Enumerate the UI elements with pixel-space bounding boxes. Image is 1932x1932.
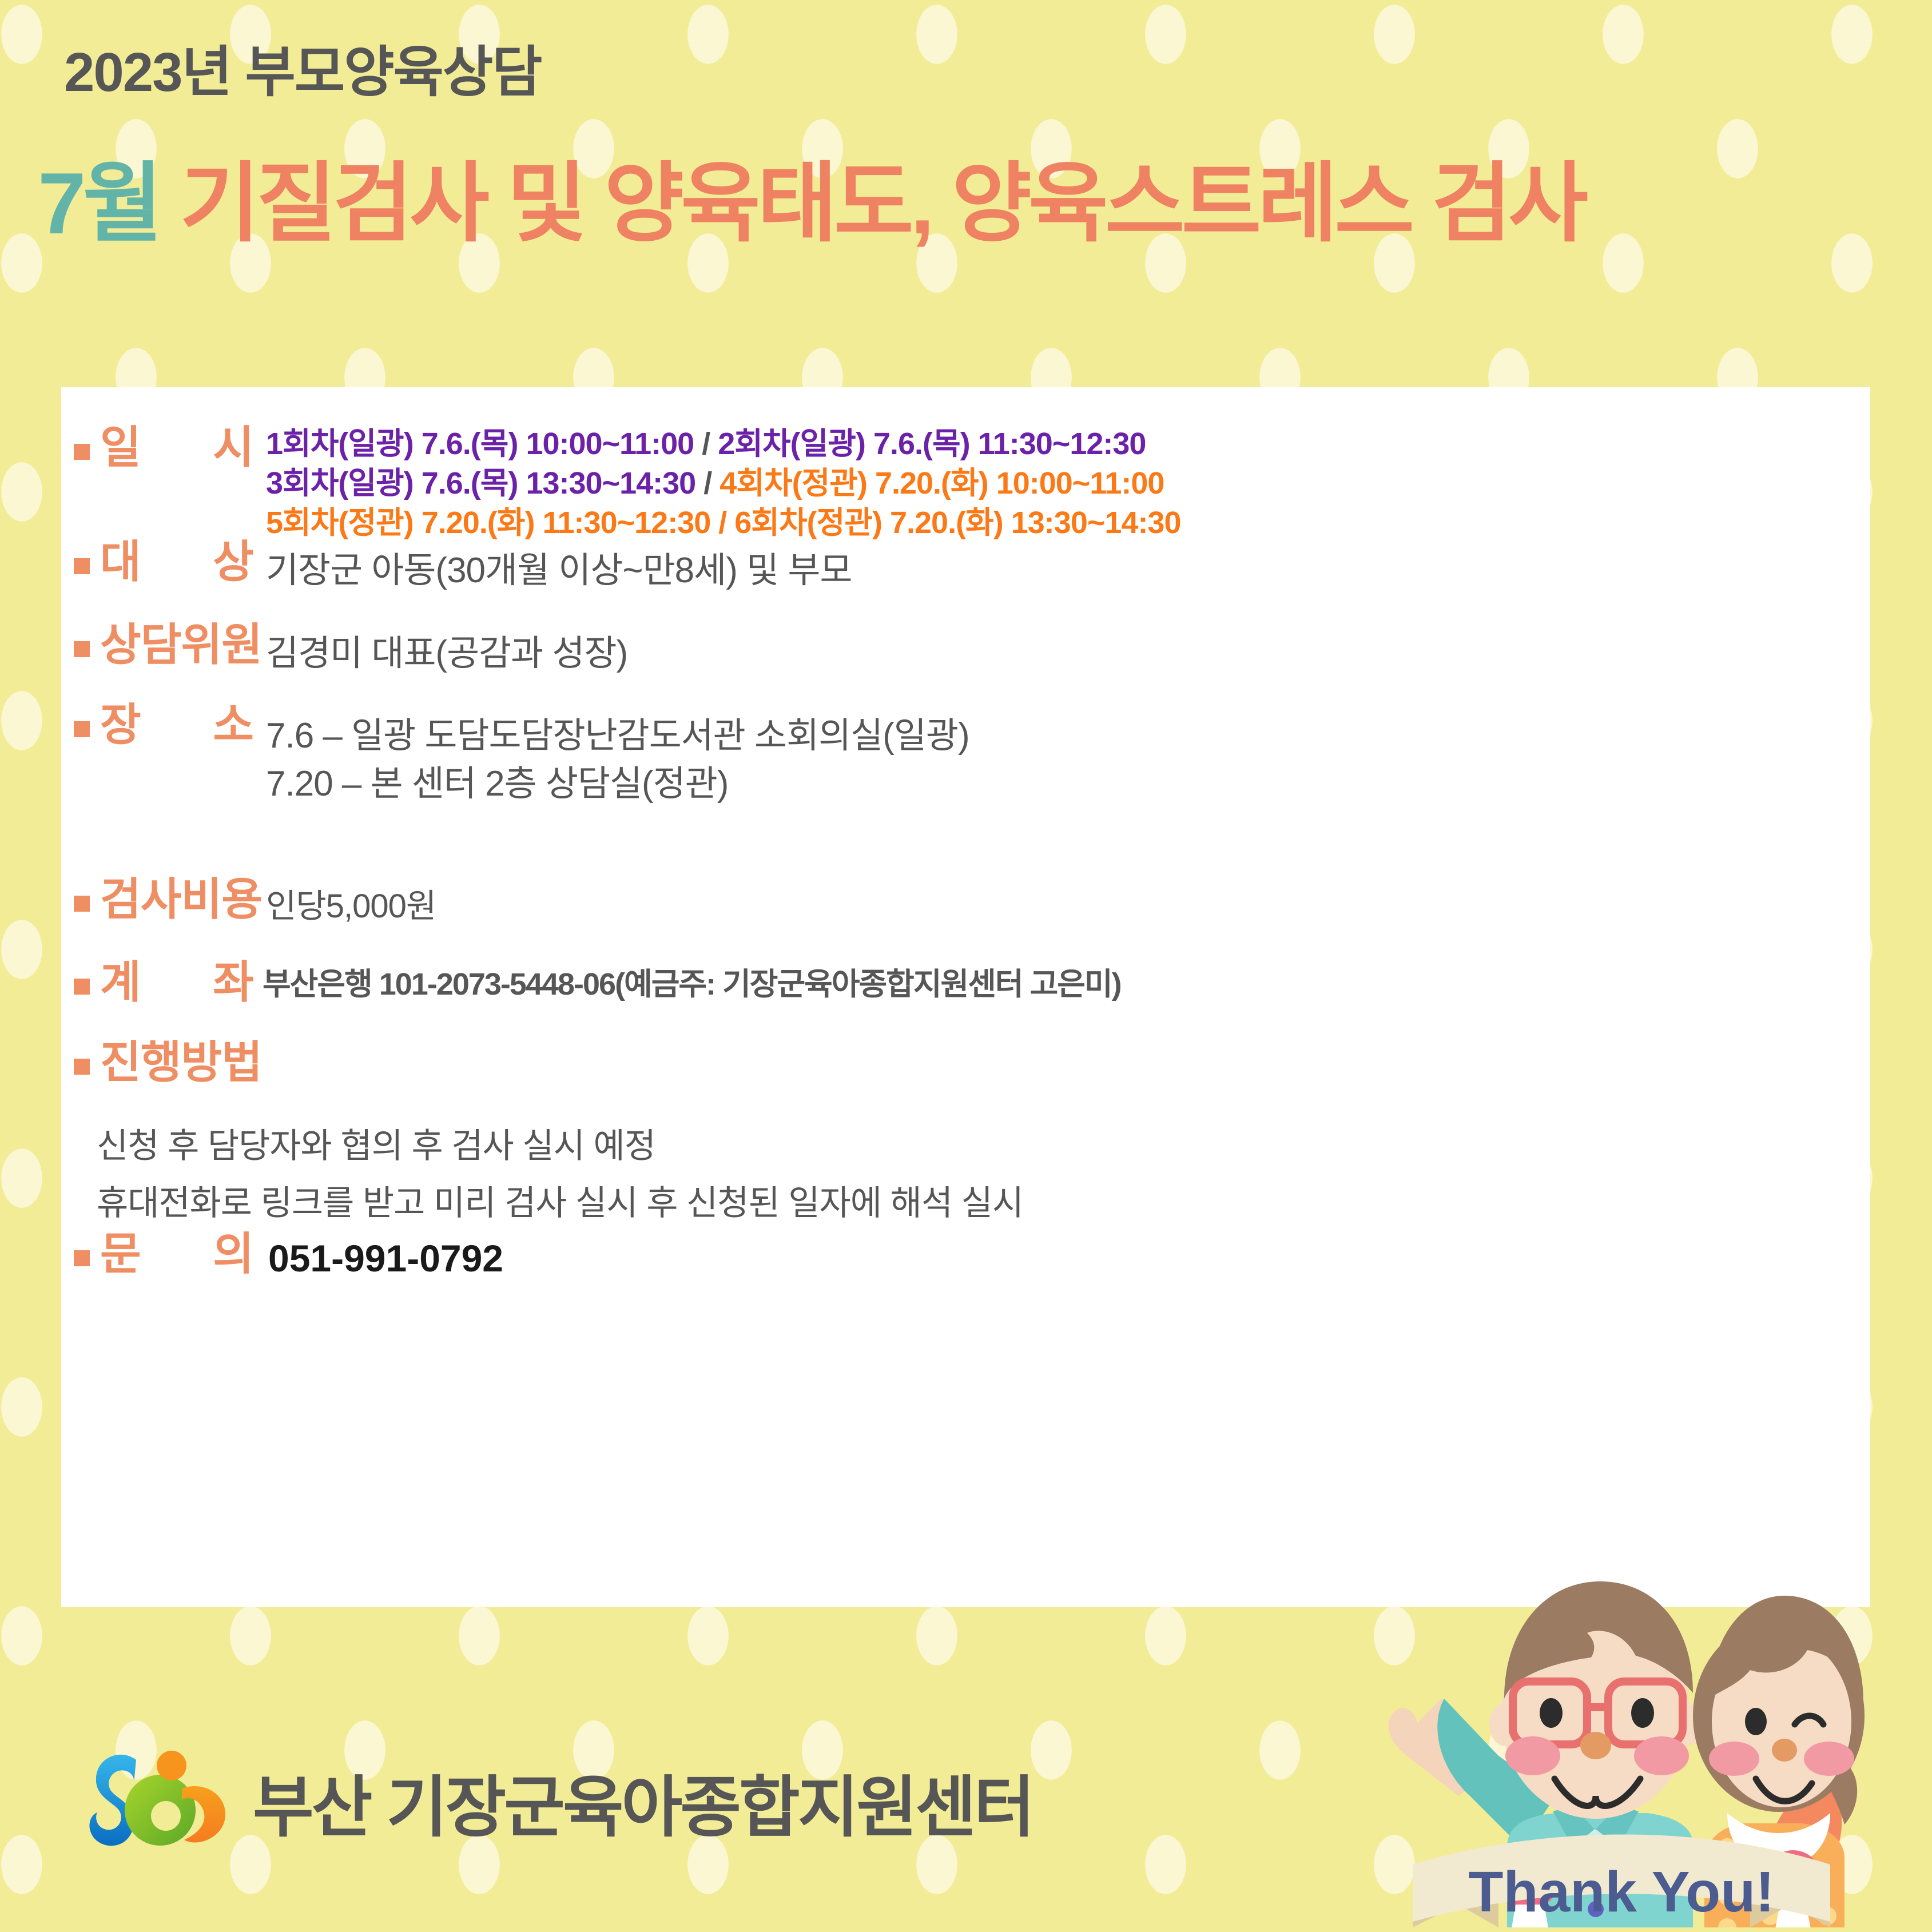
field-label-inquiry-b: 의 bbox=[213, 1231, 253, 1278]
bullet-square-icon bbox=[74, 979, 90, 995]
field-label-place: 장소 bbox=[100, 702, 253, 749]
field-row-account: 계좌 부산은행 101-2073-5448-06(예금주: 기장군육아종합지원센… bbox=[74, 959, 1121, 1006]
schedule-sep-1: / bbox=[694, 427, 718, 461]
center-logo-icon bbox=[86, 1736, 240, 1867]
schedule-list: 1회차(일광) 7.6.(목) 10:00~11:00 / 2회차(일광) 7.… bbox=[266, 424, 1181, 543]
method-line-2: 휴대전화로 링크를 받고 미리 검사 실시 후 신청된 일자에 해석 실시 bbox=[97, 1175, 1023, 1225]
field-label-place-a: 장 bbox=[100, 702, 141, 749]
parents-illustration: Thank You! bbox=[1327, 1527, 1916, 1927]
schedule-line-3: 5회차(정관) 7.20.(화) 11:30~12:30 / 6회차(정관) 7… bbox=[266, 503, 1181, 543]
bullet-square-icon bbox=[74, 1059, 90, 1075]
field-label-fee: 검사비용 bbox=[100, 876, 253, 923]
schedule-session-2: 2회차(일광) 7.6.(목) 11:30~12:30 bbox=[718, 427, 1146, 461]
bullet-square-icon bbox=[74, 721, 90, 737]
field-label-inquiry-a: 문 bbox=[100, 1231, 141, 1278]
poster-kicker: 2023년 부모양육상담 bbox=[64, 27, 541, 107]
field-label-account: 계좌 bbox=[100, 959, 253, 1006]
headline-rest: 기질검사 및 양육태도, 양육스트레스 검사 bbox=[159, 155, 1585, 252]
place-line-2: 7.20 – 본 센터 2층 상담실(정관) bbox=[266, 764, 728, 804]
field-label-datetime-a: 일 bbox=[100, 424, 141, 471]
field-row-inquiry: 문의 051-991-0792 bbox=[74, 1231, 503, 1280]
field-label-method: 진행방법 bbox=[100, 1039, 262, 1086]
field-value-inquiry-phone[interactable]: 051-991-0792 bbox=[268, 1237, 503, 1280]
bullet-square-icon bbox=[74, 1250, 90, 1266]
footer: 부산 기장군육아종합지원센터 bbox=[86, 1736, 1033, 1867]
field-row-target: 대상 기장군 아동(30개월 이상~만8세) 및 부모 bbox=[74, 539, 852, 595]
field-value-place: 7.6 – 일광 도담도담장난감도서관 소회의실(일광)7.20 – 본 센터 … bbox=[266, 712, 969, 808]
schedule-sep-3: / bbox=[710, 506, 734, 540]
schedule-sep-2: / bbox=[695, 466, 719, 500]
field-label-inquiry: 문의 bbox=[100, 1231, 253, 1278]
field-row-method: 진행방법 bbox=[74, 1039, 262, 1086]
field-row-datetime: 일시 1회차(일광) 7.6.(목) 10:00~11:00 / 2회차(일광)… bbox=[74, 424, 1181, 543]
field-value-target: 기장군 아동(30개월 이상~만8세) 및 부모 bbox=[266, 547, 852, 595]
schedule-session-6: 6회차(정관) 7.20.(화) 13:30~14:30 bbox=[734, 506, 1180, 540]
schedule-session-5: 5회차(정관) 7.20.(화) 11:30~12:30 bbox=[266, 506, 710, 540]
page-title: 7월 기질검사 및 양육태도, 양육스트레스 검사 bbox=[38, 160, 1585, 247]
headline-month: 7월 bbox=[38, 155, 159, 252]
place-line-1: 7.6 – 일광 도담도담장난감도서관 소회의실(일광) bbox=[266, 716, 969, 756]
field-label-target-a: 대 bbox=[100, 539, 141, 586]
field-label-datetime-b: 시 bbox=[213, 424, 253, 471]
schedule-session-3: 3회차(일광) 7.6.(목) 13:30~14:30 bbox=[266, 466, 695, 500]
field-value-account: 부산은행 101-2073-5448-06(예금주: 기장군육아종합지원센터 고… bbox=[263, 966, 1121, 1003]
field-row-counselor: 상담위원 김경미 대표(공감과 성장) bbox=[74, 622, 627, 678]
method-line-1: 신청 후 담당자와 협의 후 검사 실시 예정 bbox=[97, 1118, 655, 1168]
schedule-session-4: 4회차(정관) 7.20.(화) 10:00~11:00 bbox=[719, 466, 1164, 500]
poster-root: 2023년 부모양육상담 7월 기질검사 및 양육태도, 양육스트레스 검사 일… bbox=[0, 0, 1932, 1932]
field-label-account-b: 좌 bbox=[213, 959, 253, 1006]
bullet-square-icon bbox=[74, 558, 90, 574]
schedule-line-1: 1회차(일광) 7.6.(목) 10:00~11:00 / 2회차(일광) 7.… bbox=[266, 424, 1181, 464]
thank-you-banner-text: Thank You! bbox=[1468, 1860, 1774, 1924]
bullet-square-icon bbox=[74, 641, 90, 657]
schedule-session-1: 1회차(일광) 7.6.(목) 10:00~11:00 bbox=[266, 427, 694, 461]
content-card: 일시 1회차(일광) 7.6.(목) 10:00~11:00 / 2회차(일광)… bbox=[61, 387, 1870, 1607]
field-label-place-b: 소 bbox=[213, 702, 253, 749]
field-value-counselor: 김경미 대표(공감과 성장) bbox=[266, 630, 627, 678]
field-label-datetime: 일시 bbox=[100, 424, 253, 471]
bullet-square-icon bbox=[74, 444, 90, 460]
field-label-account-a: 계 bbox=[100, 959, 141, 1006]
field-row-fee: 검사비용 인당5,000원 bbox=[74, 876, 436, 929]
field-value-fee: 인당5,000원 bbox=[266, 884, 436, 929]
bullet-square-icon bbox=[74, 896, 90, 912]
field-label-target-b: 상 bbox=[213, 539, 253, 586]
field-row-place: 장소 7.6 – 일광 도담도담장난감도서관 소회의실(일광)7.20 – 본 … bbox=[74, 702, 969, 808]
organization-name: 부산 기장군육아종합지원센터 bbox=[253, 1754, 1033, 1850]
field-label-target: 대상 bbox=[100, 539, 253, 586]
field-label-counselor: 상담위원 bbox=[100, 622, 253, 669]
schedule-line-2: 3회차(일광) 7.6.(목) 13:30~14:30 / 4회차(정관) 7.… bbox=[266, 464, 1181, 503]
